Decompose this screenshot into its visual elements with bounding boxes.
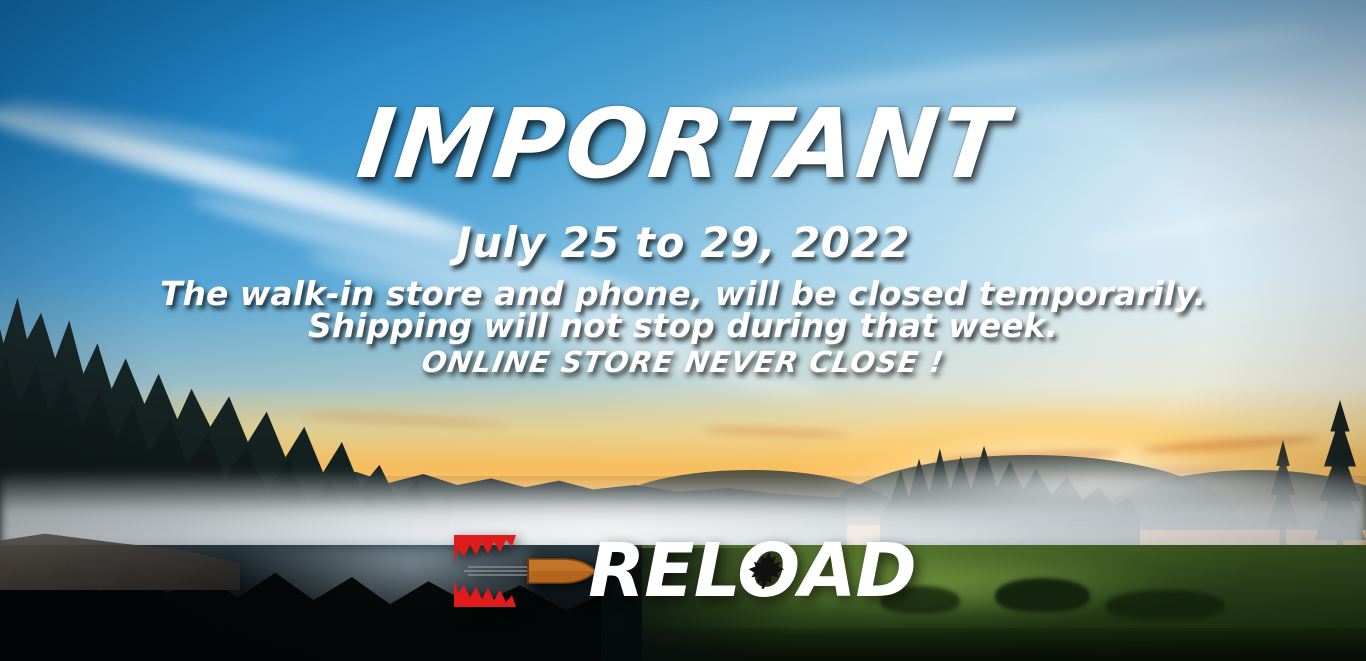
logo-text-before-o: REL	[588, 528, 737, 614]
logo-wordmark: RELOAD	[588, 534, 916, 608]
banner-content: IMPORTANT July 25 to 29, 2022 The walk-i…	[0, 0, 1366, 661]
promo-banner: IMPORTANT July 25 to 29, 2022 The walk-i…	[0, 0, 1366, 661]
headline-important: IMPORTANT	[0, 96, 1366, 192]
tagline-online-store: ONLINE STORE NEVER CLOSE !	[0, 348, 1366, 377]
x-reload-logo[interactable]: RELOAD	[0, 528, 1366, 614]
date-range-text: July 25 to 29, 2022	[0, 222, 1366, 264]
logo-text-after-o: AD	[799, 528, 916, 614]
message-line-2: Shipping will not stop during that week.	[0, 308, 1366, 345]
logo-letter-o: O	[737, 528, 799, 614]
logo-letter-o-glyph: O	[737, 528, 799, 614]
x-bullet-icon	[450, 529, 600, 613]
